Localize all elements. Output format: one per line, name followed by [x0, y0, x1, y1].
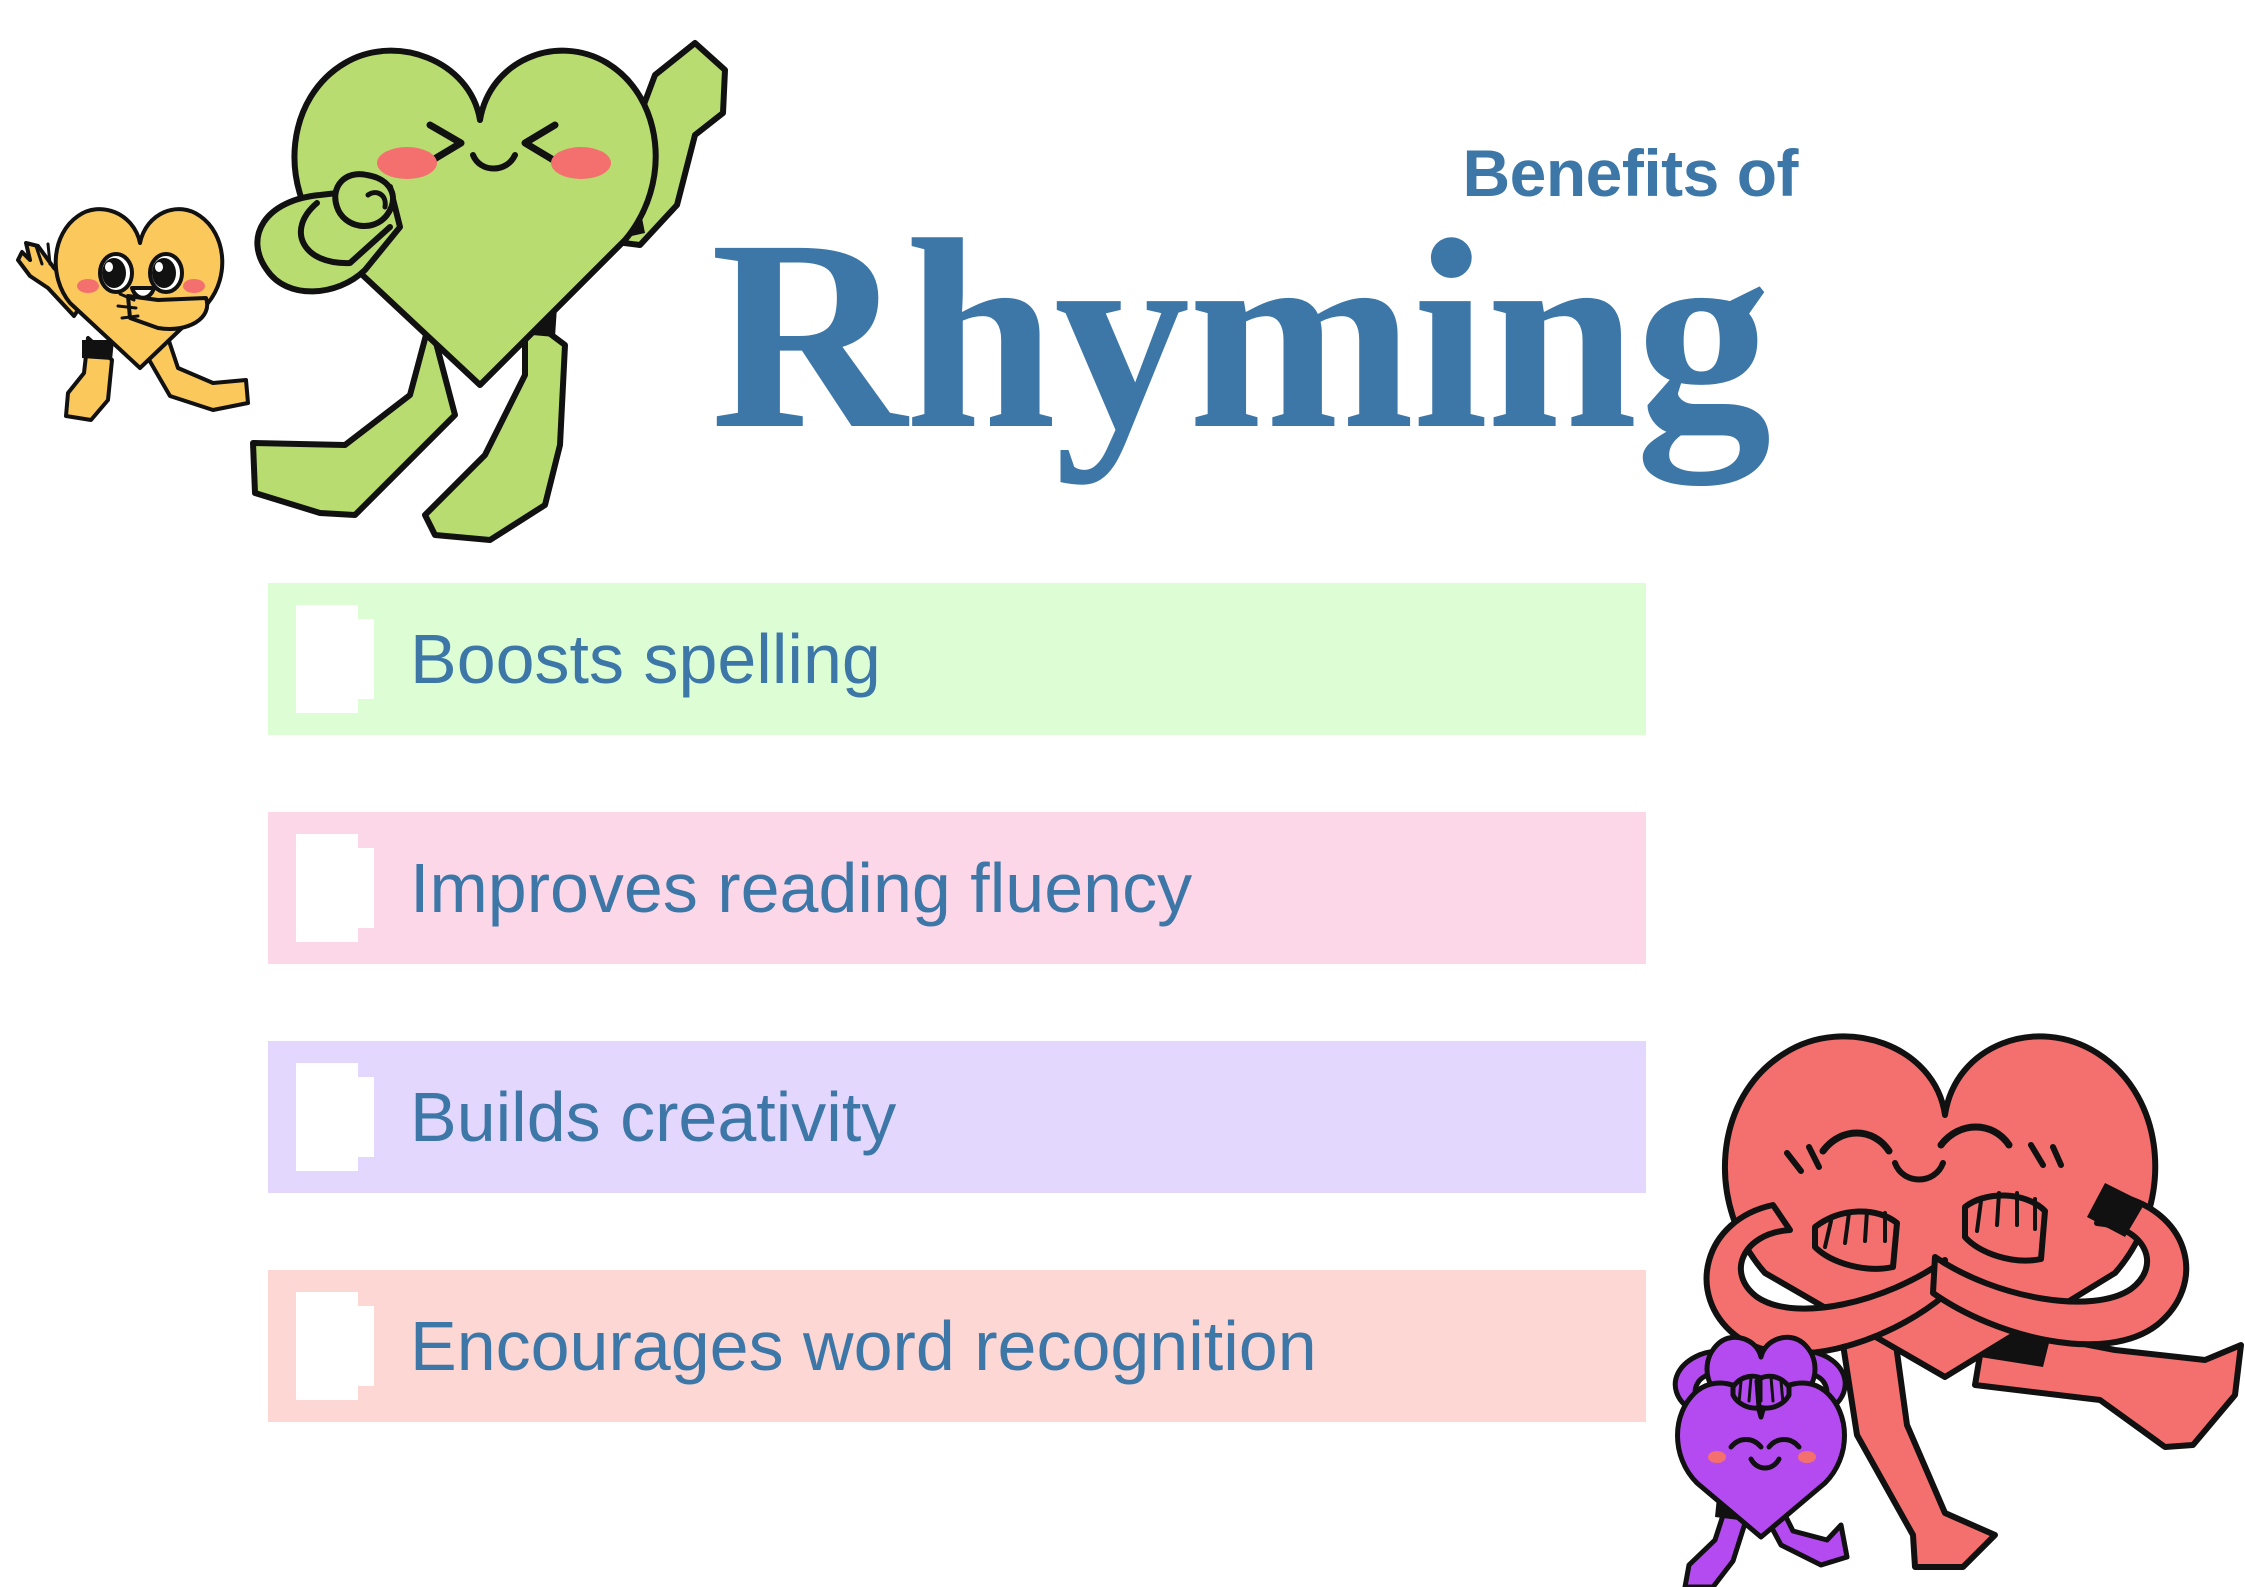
benefit-label-1: Boosts spelling: [410, 624, 881, 694]
purple-heart-character: [1655, 1325, 1870, 1587]
benefit-label-2: Improves reading fluency: [410, 853, 1192, 923]
benefit-row-1[interactable]: Boosts spelling: [268, 583, 1646, 735]
title-block: Benefits of Rhyming: [660, 140, 1820, 520]
bookmark-bullet-icon: [296, 1292, 374, 1400]
bookmark-bullet-icon: [296, 605, 374, 713]
benefit-label-4: Encourages word recognition: [410, 1311, 1317, 1381]
benefit-row-2[interactable]: Improves reading fluency: [268, 812, 1646, 964]
benefit-label-3: Builds creativity: [410, 1082, 896, 1152]
page-title: Rhyming: [660, 192, 1820, 478]
infographic-canvas: Benefits of Rhyming Boosts spelling Impr…: [0, 0, 2245, 1587]
bookmark-bullet-icon: [296, 1063, 374, 1171]
yellow-heart-character: [8, 188, 273, 443]
bookmark-bullet-icon: [296, 834, 374, 942]
benefits-list: Boosts spelling Improves reading fluency…: [268, 583, 1646, 1422]
benefit-row-4[interactable]: Encourages word recognition: [268, 1270, 1646, 1422]
benefit-row-3[interactable]: Builds creativity: [268, 1041, 1646, 1193]
